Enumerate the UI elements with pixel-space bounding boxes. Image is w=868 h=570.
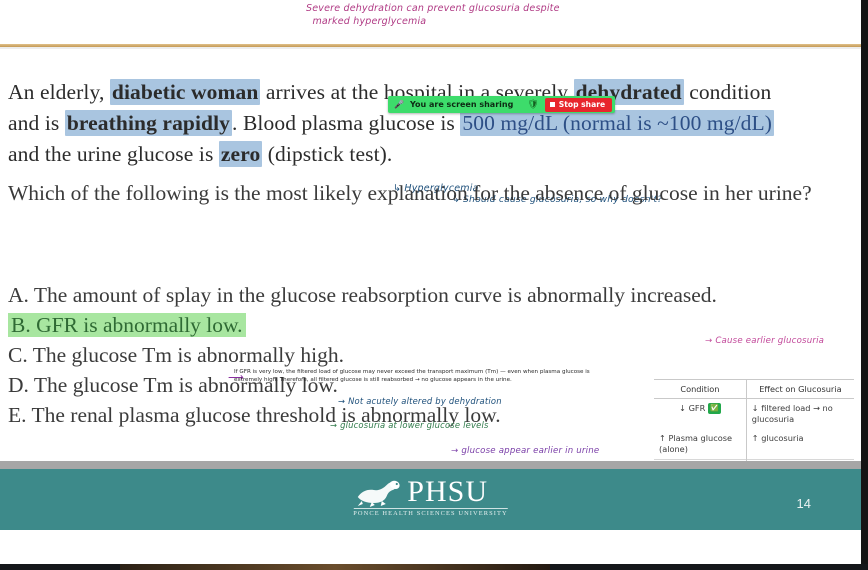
option-b[interactable]: B. GFR is abnormally low. [8, 311, 708, 339]
stem-part-7: (dipstick test). [262, 142, 392, 166]
blank-area-below-slide [0, 530, 861, 564]
option-b-highlighted: B. GFR is abnormally low. [8, 313, 246, 337]
highlight-breathing-rapidly: breathing rapidly [65, 110, 232, 136]
option-c-text: The glucose Tm is abnormally high. [28, 343, 344, 367]
screen-share-toolbar[interactable]: 🎤 You are screen sharing 🛡 Stop share [388, 96, 615, 113]
handwritten-option-d-note: → glucosuria at lower glucose levels [330, 420, 489, 430]
stem-part-5: and the urine [8, 142, 122, 166]
option-a-text: The amount of splay in the glucose reabs… [29, 283, 717, 307]
handwritten-option-c-note: → Not acutely altered by dehydration [338, 396, 502, 406]
highlight-diabetic-woman: diabetic woman [110, 79, 261, 105]
table-header-row: Condition Effect on Glucosuria [654, 380, 854, 399]
handwritten-option-a-note: → Cause earlier glucosuria [705, 336, 824, 346]
table-cell-condition: ↑ Plasma glucose (alone) [654, 429, 746, 460]
stop-share-button[interactable]: Stop share [545, 98, 612, 112]
stem-part-1: An elderly, [8, 80, 110, 104]
microphone-icon[interactable]: 🎤 [391, 100, 410, 109]
handwritten-option-e-note: → glucose appear earlier in urine [451, 446, 599, 456]
table-cell-effect: ↓ filtered load → no glucosuria [746, 399, 854, 430]
table-row: ↑ Plasma glucose (alone) ↑ glucosuria [654, 429, 854, 460]
page-number: 14 [797, 496, 811, 511]
logo-subtitle: PONCE HEALTH SCIENCES UNIVERSITY [353, 508, 507, 517]
footer-divider [0, 461, 861, 469]
slide-footer: PHSU PONCE HEALTH SCIENCES UNIVERSITY 14 [0, 469, 861, 530]
answer-options-list: A. The amount of splay in the glucose re… [8, 281, 708, 431]
shared-screen: Severe dehydration can prevent glucosuri… [0, 0, 868, 570]
option-a-letter: A. [8, 283, 29, 307]
option-c[interactable]: C. The glucose Tm is abnormally high. [8, 341, 708, 369]
stem-part-6: glucose is [127, 142, 219, 166]
shield-icon[interactable]: 🛡 [527, 99, 544, 110]
table-cell-condition: ↓ GFR ✅ [654, 399, 746, 430]
monitor-frame-right [861, 0, 868, 570]
logo-wordmark: PHSU [407, 477, 488, 507]
check-icon: ✅ [708, 403, 721, 414]
highlight-plasma-glucose: 500 mg/dL (normal is ~100 mg/dL) [460, 110, 774, 136]
condition-text: ↓ GFR [679, 403, 705, 413]
option-d-letter: D. [8, 373, 29, 397]
screen-sharing-label: You are screen sharing [410, 100, 527, 109]
table-row: ↓ GFR ✅ ↓ filtered load → no glucosuria [654, 399, 854, 430]
question-prompt: Which of the following is the most likel… [8, 179, 838, 207]
lion-crest-icon [353, 477, 405, 507]
option-b-letter: B. [11, 313, 31, 337]
table-cell-effect: ↑ glucosuria [746, 429, 854, 460]
stem-part-4: . Blood plasma glucose is [232, 111, 460, 135]
stop-share-label: Stop share [559, 100, 605, 109]
monitor-frame-reflection [120, 564, 550, 570]
option-c-letter: C. [8, 343, 28, 367]
handwritten-option-b-note: If GFR is very low, the filtered load of… [234, 368, 614, 384]
table-header-effect: Effect on Glucosuria [746, 380, 854, 399]
table-header-condition: Condition [654, 380, 746, 399]
option-e-letter: E. [8, 403, 27, 427]
logo-row: PHSU [353, 477, 507, 507]
phsu-logo: PHSU PONCE HEALTH SCIENCES UNIVERSITY [353, 477, 507, 517]
highlight-zero: zero [219, 141, 262, 167]
option-a[interactable]: A. The amount of splay in the glucose re… [8, 281, 708, 309]
option-b-text: GFR is abnormally low. [31, 313, 243, 337]
handwritten-top-note: Severe dehydration can prevent glucosuri… [306, 2, 560, 28]
question-stem: An elderly, diabetic woman arrives at th… [8, 77, 808, 170]
stop-square-icon [550, 102, 555, 107]
